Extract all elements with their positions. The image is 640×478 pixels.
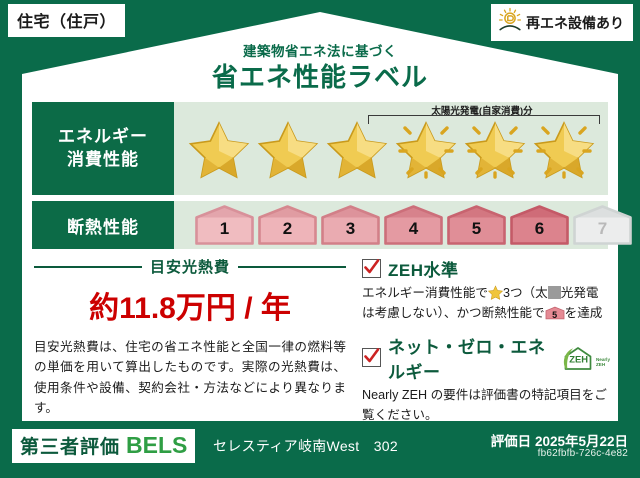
star-4	[395, 118, 457, 180]
utility-cost-heading: 目安光熱費	[34, 256, 346, 277]
insulation-level-5: 5	[446, 205, 507, 245]
utility-cost-column: 目安光熱費 約11.8万円 / 年 目安光熱費は、住宅の省エネ性能と全国一律の燃…	[34, 256, 346, 419]
inline-star-icon	[488, 285, 503, 300]
housing-type-badge: 住宅（住戸）	[8, 4, 125, 37]
insulation-level-value-5: 5	[446, 205, 507, 245]
label-body-card: エネルギー 消費性能 太陽光発電(自家消費)分 断熱性能 1234567 目安光…	[22, 92, 618, 421]
heading-rule-left	[34, 266, 142, 268]
sun-horizon-icon	[497, 7, 523, 38]
star-rating	[178, 102, 604, 195]
insulation-level-value-6: 6	[509, 205, 570, 245]
insulation-level-3: 3	[320, 205, 381, 245]
redacted-character	[548, 286, 561, 299]
insulation-level-1: 1	[194, 205, 255, 245]
zeh-standard-heading: ZEH水準	[362, 256, 610, 281]
bels-badge: 第三者評価 BELS	[12, 429, 195, 463]
zeh-standard-description: エネルギー消費性能で3つ（太光発電は考慮しない）、かつ断熱性能で5を達成	[362, 283, 610, 324]
insulation-level-value-7: 7	[572, 205, 633, 245]
insulation-level-6: 6	[509, 205, 570, 245]
bels-badge-en: BELS	[126, 432, 187, 459]
utility-cost-value: 約11.8万円 / 年	[34, 283, 346, 327]
net-zero-description: Nearly ZEH の要件は評価書の特記項目をご覧ください。	[362, 385, 610, 426]
label-footer: 第三者評価 BELS セレスティア岐南West 302 評価日 2025年5月2…	[0, 421, 640, 478]
zeh-desc-part-b: 3つ（太	[503, 286, 548, 300]
renewable-equipment-badge: 再エネ設備あり	[491, 4, 633, 41]
insulation-rating-area: 1234567	[174, 201, 608, 249]
insulation-level-scale: 1234567	[180, 201, 602, 249]
utility-cost-note: 目安光熱費は、住宅の省エネ性能と全国一律の燃料等の単価を用いて算出したものです。…	[34, 337, 346, 419]
net-zero-checkbox	[362, 348, 381, 367]
energy-performance-label-block: エネルギー 消費性能	[32, 102, 174, 195]
insulation-label: 断熱性能	[67, 213, 139, 238]
evaluation-id: fb62fbfb-726c-4e82	[538, 448, 628, 459]
insulation-level-value-4: 4	[383, 205, 444, 245]
zeh-desc-part-d: を達成	[565, 306, 603, 320]
zeh-logo-sub-line2: ZEH	[596, 362, 605, 367]
energy-label-line1: エネルギー	[58, 126, 148, 149]
bels-badge-jp: 第三者評価	[20, 432, 120, 459]
star-1	[188, 118, 250, 180]
energy-label-line2: 消費性能	[67, 149, 139, 172]
housing-type-label: 住宅（住戸）	[17, 14, 116, 31]
energy-performance-label: 住宅（住戸）	[0, 0, 640, 478]
label-header: 住宅（住戸）	[0, 0, 640, 96]
zeh-logo: ZEH Nearly ZEH	[561, 345, 610, 371]
insulation-level-value-3: 3	[320, 205, 381, 245]
net-zero-title: ネット・ゼロ・エネルギー	[388, 333, 558, 383]
net-zero-heading: ネット・ゼロ・エネルギー ZEH Nearly ZEH	[362, 333, 610, 383]
evaluation-date: 評価日 2025年5月22日	[491, 430, 628, 450]
insulation-performance-row: 断熱性能 1234567	[32, 201, 608, 249]
star-2	[257, 118, 319, 180]
svg-text:ZEH: ZEH	[569, 353, 588, 364]
star-6	[533, 118, 595, 180]
insulation-level-value-1: 1	[194, 205, 255, 245]
inline-insulation-badge-value: 5	[545, 305, 565, 321]
zeh-standard-checkbox	[362, 259, 381, 278]
insulation-level-4: 4	[383, 205, 444, 245]
insulation-level-2: 2	[257, 205, 318, 245]
insulation-performance-label-block: 断熱性能	[32, 201, 174, 249]
inline-insulation-badge: 5	[545, 305, 565, 321]
renewable-equipment-label: 再エネ設備あり	[526, 13, 624, 33]
energy-performance-row: エネルギー 消費性能 太陽光発電(自家消費)分	[32, 102, 608, 195]
zeh-standard-title: ZEH水準	[388, 256, 459, 281]
insulation-level-value-2: 2	[257, 205, 318, 245]
zeh-desc-part-a: エネルギー消費性能で	[362, 286, 488, 300]
star-3	[326, 118, 388, 180]
insulation-level-7: 7	[572, 205, 633, 245]
utility-cost-heading-text: 目安光熱費	[142, 256, 238, 277]
energy-rating-area: 太陽光発電(自家消費)分	[174, 102, 608, 195]
heading-rule-right	[238, 266, 346, 268]
star-5	[464, 118, 526, 180]
zeh-column: ZEH水準 エネルギー消費性能で3つ（太光発電は考慮しない）、かつ断熱性能で5を…	[362, 256, 610, 435]
label-title: 省エネ性能ラベル	[0, 57, 640, 94]
zeh-logo-subtext: Nearly ZEH	[596, 358, 610, 368]
property-name: セレスティア岐南West 302	[213, 436, 398, 456]
